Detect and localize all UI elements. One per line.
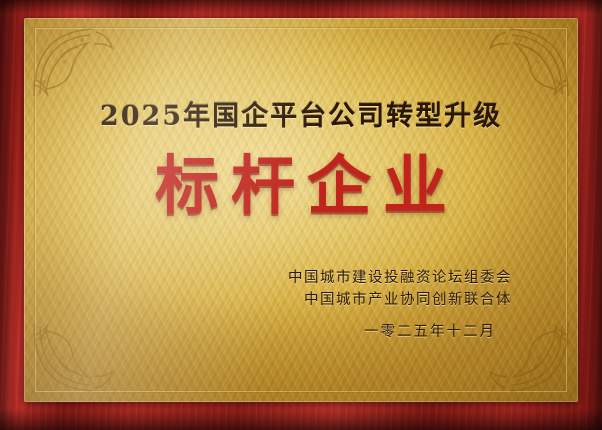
frame-shadow-top xyxy=(0,0,602,14)
plaque-award-title: 标杆企业 xyxy=(143,155,459,219)
issuer-line: 中国城市建设投融资论坛组委会 xyxy=(288,267,512,289)
plaque-issuer-block: 中国城市建设投融资论坛组委会 中国城市产业协同创新联合体 一零二五年十二月 xyxy=(24,267,578,341)
award-plaque-photo: 2025年国企平台公司转型升级 标杆企业 中国城市建设投融资论坛组委会 中国城市… xyxy=(0,0,602,430)
plaque-headline: 2025年国企平台公司转型升级 xyxy=(100,94,502,133)
frame-shadow-bottom xyxy=(0,408,602,430)
plaque-date: 一零二五年十二月 xyxy=(364,320,496,341)
issuer-line: 中国城市产业协同创新联合体 xyxy=(304,289,512,311)
frame-shadow-right xyxy=(584,0,602,430)
frame-shadow-left xyxy=(0,0,18,430)
plaque-text-block: 2025年国企平台公司转型升级 标杆企业 中国城市建设投融资论坛组委会 中国城市… xyxy=(24,18,578,402)
gold-plate: 2025年国企平台公司转型升级 标杆企业 中国城市建设投融资论坛组委会 中国城市… xyxy=(24,18,578,402)
